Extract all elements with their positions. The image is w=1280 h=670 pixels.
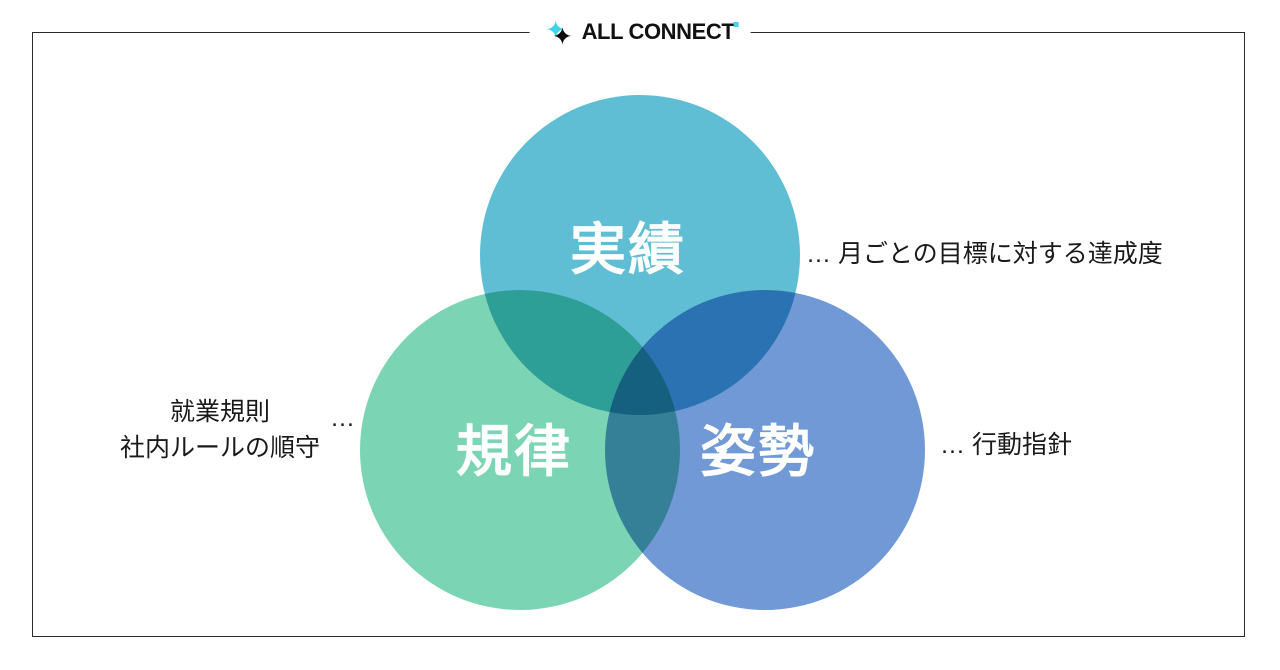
brand-lockup: ALL CONNECT (530, 15, 751, 49)
venn-label-discipline: 規律 (456, 424, 572, 480)
diamond-star-logo-icon (546, 19, 573, 46)
slide-canvas: 実績 規律 姿勢 … 月ごとの目標に対する達成度 就業規則 社内ルールの順守 …… (0, 0, 1280, 670)
annotation-discipline: 就業規則 社内ルールの順守 … (80, 394, 355, 467)
venn-label-attitude: 姿勢 (700, 424, 816, 480)
annotation-discipline-line2: 社内ルールの順守 (120, 430, 320, 466)
annotation-discipline-line1: 就業規則 (120, 394, 320, 430)
venn-label-achievement: 実績 (570, 222, 686, 278)
brand-name: ALL CONNECT (582, 21, 735, 43)
annotation-achievement: … 月ごとの目標に対する達成度 (806, 236, 1163, 272)
brand-accent-tick-icon (733, 22, 738, 27)
annotation-discipline-lines: 就業規則 社内ルールの順守 (120, 394, 320, 467)
slide-border-frame (32, 32, 1245, 637)
annotation-attitude: … 行動指針 (940, 427, 1072, 463)
annotation-discipline-leader: … (330, 394, 355, 436)
